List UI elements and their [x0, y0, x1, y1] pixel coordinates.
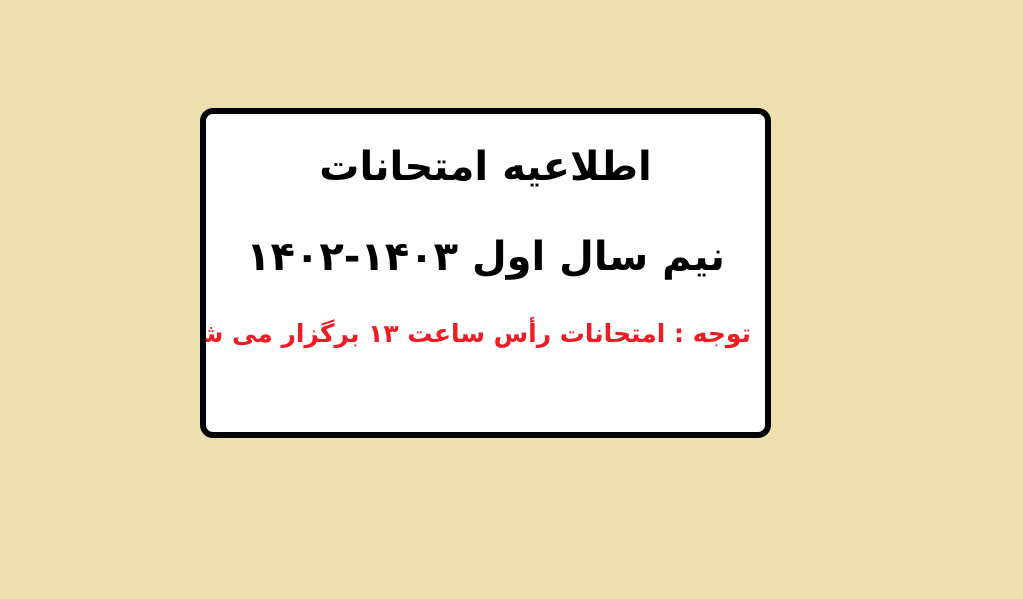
page-title: اطلاعیه امتحانات [220, 142, 751, 192]
notice-title-row: اطلاعیه امتحانات [206, 114, 765, 192]
notice-warning-text: توجه : امتحانات رأس ساعت ۱۳ برگزار می شو… [220, 318, 751, 351]
announcement-page: اطلاعیه امتحانات نیم سال اول ۱۴۰۳-۱۴۰۲ ت… [0, 0, 1023, 599]
notice-subtitle: نیم سال اول ۱۴۰۳-۱۴۰۲ [220, 232, 751, 282]
notice-subtitle-row: نیم سال اول ۱۴۰۳-۱۴۰۲ [206, 192, 765, 282]
notice-card: اطلاعیه امتحانات نیم سال اول ۱۴۰۳-۱۴۰۲ ت… [200, 108, 771, 438]
notice-warning-row: توجه : امتحانات رأس ساعت ۱۳ برگزار می شو… [206, 282, 765, 351]
